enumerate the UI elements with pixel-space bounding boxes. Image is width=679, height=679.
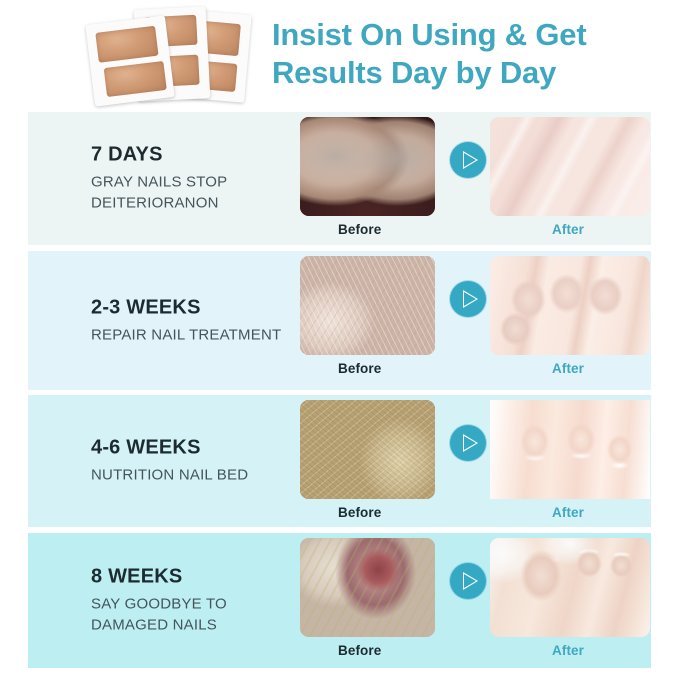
after-caption: After — [552, 361, 584, 376]
before-image — [300, 256, 435, 355]
page-headline: Insist On Using & Get Results Day by Day — [272, 16, 672, 92]
row-title: 8 WEEKS — [91, 565, 306, 588]
after-image — [490, 117, 650, 216]
before-caption: Before — [338, 361, 381, 376]
patch-sheet-front — [85, 15, 174, 106]
before-caption: Before — [338, 505, 381, 520]
after-image — [490, 400, 650, 499]
row-text-block: 2-3 WEEKS REPAIR NAIL TREATMENT — [91, 296, 306, 345]
patch-pad — [104, 61, 167, 97]
before-caption: Before — [338, 643, 381, 658]
before-caption: Before — [338, 222, 381, 237]
play-icon[interactable] — [450, 142, 486, 178]
row-title: 2-3 WEEKS — [91, 296, 306, 319]
play-icon[interactable] — [450, 563, 486, 599]
after-photo — [490, 256, 650, 355]
before-photo — [300, 538, 435, 637]
after-caption: After — [552, 505, 584, 520]
timeline-row-8-weeks: 8 WEEKS SAY GOODBYE TO DAMAGED NAILS Bef… — [28, 533, 651, 668]
row-text-block: 4-6 WEEKS NUTRITION NAIL BED — [91, 436, 306, 485]
row-text-block: 7 DAYS GRAY NAILS STOP DEITERIORANON — [91, 143, 306, 214]
before-image — [300, 400, 435, 499]
play-triangle-inner — [464, 292, 476, 306]
after-caption: After — [552, 643, 584, 658]
row-subtitle: SAY GOODBYE TO DAMAGED NAILS — [91, 593, 306, 636]
row-title: 4-6 WEEKS — [91, 436, 306, 459]
timeline-row-2-3-weeks: 2-3 WEEKS REPAIR NAIL TREATMENT Before A… — [28, 251, 651, 390]
before-image — [300, 117, 435, 216]
after-caption: After — [552, 222, 584, 237]
before-photo — [300, 117, 435, 216]
timeline-row-7-days: 7 DAYS GRAY NAILS STOP DEITERIORANON Bef… — [28, 112, 651, 245]
before-image — [300, 538, 435, 637]
infographic-page: Insist On Using & Get Results Day by Day… — [0, 0, 679, 679]
product-patches-image — [88, 6, 248, 104]
row-subtitle: NUTRITION NAIL BED — [91, 464, 306, 485]
play-icon[interactable] — [450, 281, 486, 317]
after-photo — [490, 400, 650, 499]
play-triangle-inner — [464, 436, 476, 450]
patch-pad — [95, 26, 158, 63]
before-photo — [300, 400, 435, 499]
before-photo — [300, 256, 435, 355]
after-photo — [490, 117, 650, 216]
timeline-row-4-6-weeks: 4-6 WEEKS NUTRITION NAIL BED Before Afte… — [28, 395, 651, 527]
row-subtitle: REPAIR NAIL TREATMENT — [91, 324, 306, 345]
play-triangle-inner — [464, 574, 476, 588]
row-text-block: 8 WEEKS SAY GOODBYE TO DAMAGED NAILS — [91, 565, 306, 636]
header: Insist On Using & Get Results Day by Day — [0, 0, 679, 112]
play-icon[interactable] — [450, 425, 486, 461]
row-subtitle: GRAY NAILS STOP DEITERIORANON — [91, 171, 306, 214]
row-title: 7 DAYS — [91, 143, 306, 166]
play-triangle-inner — [464, 153, 476, 167]
after-image — [490, 256, 650, 355]
after-photo — [490, 538, 650, 637]
after-image — [490, 538, 650, 637]
